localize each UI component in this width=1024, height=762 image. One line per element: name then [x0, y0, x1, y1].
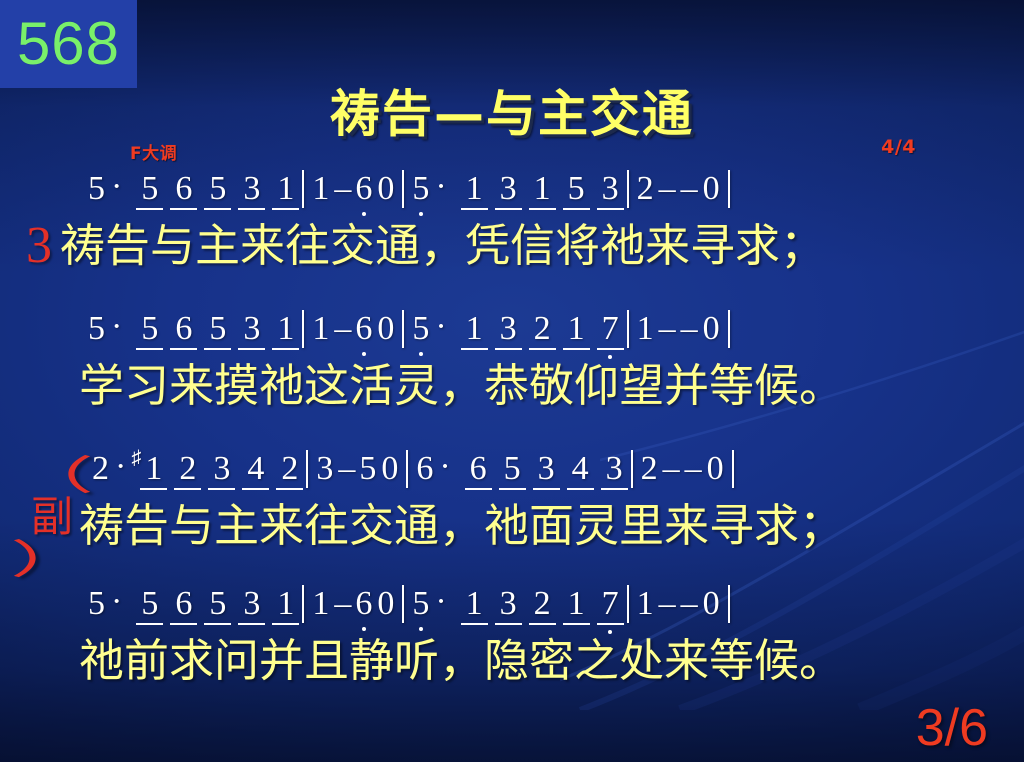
measure: 1–60	[310, 172, 396, 206]
low-octave-dot	[362, 212, 366, 216]
low-octave-dot	[419, 212, 423, 216]
note: 0	[380, 452, 399, 486]
note: 2	[280, 452, 299, 486]
measure: 5·13217	[410, 312, 620, 346]
barline	[732, 450, 734, 488]
note: –	[658, 587, 677, 621]
page-indicator: 3/6	[916, 700, 988, 756]
barline	[728, 170, 730, 208]
verse-number: 3	[26, 220, 52, 272]
note: 0	[702, 172, 721, 206]
note: 5	[208, 172, 227, 206]
note: –	[680, 172, 699, 206]
measure: 5·13217	[410, 587, 620, 621]
note: 0	[376, 587, 395, 621]
note: 6	[415, 452, 434, 486]
measure: 2––0	[635, 172, 722, 206]
note: 5	[87, 312, 106, 346]
note: 0	[706, 452, 725, 486]
note: 3	[499, 172, 518, 206]
time-signature: 4/4	[881, 136, 916, 158]
note: 3	[315, 452, 334, 486]
note: 5	[87, 587, 106, 621]
barline	[627, 310, 629, 348]
note: 1	[636, 312, 655, 346]
note: 5	[208, 587, 227, 621]
music-system-4: 5·565311–605·132171––0 祂前求问并且静听， 隐密之处来等候…	[0, 587, 1024, 687]
notation-row-1: 5·565311–605·131532––0	[0, 172, 1024, 220]
note: –	[658, 312, 677, 346]
note: 4	[571, 452, 590, 486]
lyric-right-3: 祂面灵里来寻求；	[484, 500, 844, 552]
augmentation-dot: ·	[435, 310, 446, 344]
lyric-left-3: 祷告与主来往交通，	[79, 500, 484, 552]
note: 2	[533, 587, 552, 621]
note: 6	[174, 172, 193, 206]
barline	[302, 585, 304, 623]
lyric-left-2: 学习来摸祂这活灵，	[79, 360, 484, 412]
note: 5	[140, 587, 159, 621]
barline	[302, 170, 304, 208]
measure: 1–60	[310, 312, 396, 346]
note: 1	[311, 312, 330, 346]
measure: 2·♯12342	[90, 452, 300, 486]
measure: 5·56531	[86, 312, 296, 346]
note: 3	[499, 312, 518, 346]
note: –	[680, 312, 699, 346]
music-system-2: 5·565311–605·132171––0 学习来摸祂这活灵， 恭敬仰望并等候…	[0, 312, 1024, 412]
augmentation-dot: ·	[435, 170, 446, 204]
music-system-1: 5·565311–605·131532––0 3 祷告与主来往交通， 凭信将祂来…	[0, 172, 1024, 272]
note: 3	[601, 172, 620, 206]
page-title: 祷告—与主交通	[0, 74, 1024, 146]
lyric-row-1: 3 祷告与主来往交通， 凭信将祂来寻求；	[0, 220, 1024, 272]
measure: 5·56531	[86, 172, 296, 206]
lyric-right-1: 凭信将祂来寻求；	[465, 220, 825, 272]
low-octave-dot	[608, 355, 612, 359]
note: –	[684, 452, 703, 486]
lyric-left-4: 祂前求问并且静听，	[79, 635, 484, 687]
measure: 5·56531	[86, 587, 296, 621]
barline	[302, 310, 304, 348]
measure: 2––0	[639, 452, 726, 486]
note: 1	[465, 312, 484, 346]
note: –	[333, 172, 352, 206]
notation-row-4: 5·565311–605·132171––0	[0, 587, 1024, 635]
barline	[631, 450, 633, 488]
note: 1	[276, 587, 295, 621]
note: –	[680, 587, 699, 621]
measure: 3–50	[314, 452, 400, 486]
key-signature: F大调	[130, 139, 177, 164]
lyric-row-3: 祷告与主来往交通， 祂面灵里来寻求；	[0, 500, 1024, 552]
note: 5	[140, 172, 159, 206]
low-octave-dot	[419, 627, 423, 631]
measure: 1–60	[310, 587, 396, 621]
notation-row-2: 5·565311–605·132171––0	[0, 312, 1024, 360]
note: 0	[376, 312, 395, 346]
note: 0	[702, 587, 721, 621]
low-octave-dot	[362, 352, 366, 356]
augmentation-dot: ·	[439, 450, 450, 484]
note: 6	[469, 452, 488, 486]
note: 5	[567, 172, 586, 206]
note: 4	[246, 452, 265, 486]
barline	[627, 585, 629, 623]
note: 3	[537, 452, 556, 486]
barline	[406, 450, 408, 488]
measure: 1––0	[635, 587, 722, 621]
hymn-number: 568	[17, 14, 120, 74]
augmentation-dot: ·	[111, 310, 122, 344]
note: 3	[242, 172, 261, 206]
note: 5	[411, 172, 430, 206]
note: 2	[178, 452, 197, 486]
note: 7	[601, 312, 620, 346]
note: 1	[276, 312, 295, 346]
note: 6	[354, 587, 373, 621]
note: 1	[567, 312, 586, 346]
note: 3	[212, 452, 231, 486]
note: –	[337, 452, 356, 486]
note: 2	[533, 312, 552, 346]
low-octave-dot	[608, 630, 612, 634]
note: 1	[311, 172, 330, 206]
note: 1	[567, 587, 586, 621]
measure: 1––0	[635, 312, 722, 346]
low-octave-dot	[419, 352, 423, 356]
note: –	[662, 452, 681, 486]
note: 6	[354, 312, 373, 346]
note: 5	[358, 452, 377, 486]
lyric-right-2: 恭敬仰望并等候。	[484, 360, 844, 412]
note: 2	[636, 172, 655, 206]
lyric-left-1: 祷告与主来往交通，	[60, 220, 465, 272]
note: 1	[533, 172, 552, 206]
note: 1	[311, 587, 330, 621]
barline	[402, 170, 404, 208]
note: 1	[465, 587, 484, 621]
note: 3	[242, 312, 261, 346]
note: 6	[174, 312, 193, 346]
augmentation-dot: ·	[435, 585, 446, 619]
note: 1	[276, 172, 295, 206]
note: 6	[174, 587, 193, 621]
note: 0	[702, 312, 721, 346]
music-system-3: 2·♯123423–506·653432––0 祷告与主来往交通， 祂面灵里来寻…	[0, 452, 1024, 552]
barline	[306, 450, 308, 488]
measure: 6·65343	[414, 452, 624, 486]
measure: 5·13153	[410, 172, 620, 206]
lyric-row-2: 学习来摸祂这活灵， 恭敬仰望并等候。	[0, 360, 1024, 412]
augmentation-dot: ·	[111, 170, 122, 204]
note: 5	[140, 312, 159, 346]
note: 3	[242, 587, 261, 621]
note: 3	[605, 452, 624, 486]
note: 3	[499, 587, 518, 621]
barline	[402, 310, 404, 348]
note: 1	[636, 587, 655, 621]
augmentation-dot: ·	[115, 450, 126, 484]
sharp-accidental: ♯	[131, 448, 141, 468]
note: 6	[354, 172, 373, 206]
notation-row-3: 2·♯123423–506·653432––0	[0, 452, 1024, 500]
note: 5	[411, 312, 430, 346]
note: –	[333, 312, 352, 346]
note: –	[658, 172, 677, 206]
barline	[728, 310, 730, 348]
low-octave-dot	[362, 627, 366, 631]
note: 5	[503, 452, 522, 486]
note: –	[333, 587, 352, 621]
note: 7	[601, 587, 620, 621]
lyric-right-4: 隐密之处来等候。	[484, 635, 844, 687]
barline	[402, 585, 404, 623]
note: 1	[465, 172, 484, 206]
lyric-row-4: 祂前求问并且静听， 隐密之处来等候。	[0, 635, 1024, 687]
note: 2	[91, 452, 110, 486]
barline	[627, 170, 629, 208]
note: 5	[208, 312, 227, 346]
note: 5	[411, 587, 430, 621]
barline	[728, 585, 730, 623]
note: 2	[640, 452, 659, 486]
note: 5	[87, 172, 106, 206]
augmentation-dot: ·	[111, 585, 122, 619]
note: ♯1	[144, 452, 163, 486]
note: 0	[376, 172, 395, 206]
hymn-slide: 568 祷告—与主交通 F大调 4/4 （ 副 ） 5·565311–605·1…	[0, 0, 1024, 762]
